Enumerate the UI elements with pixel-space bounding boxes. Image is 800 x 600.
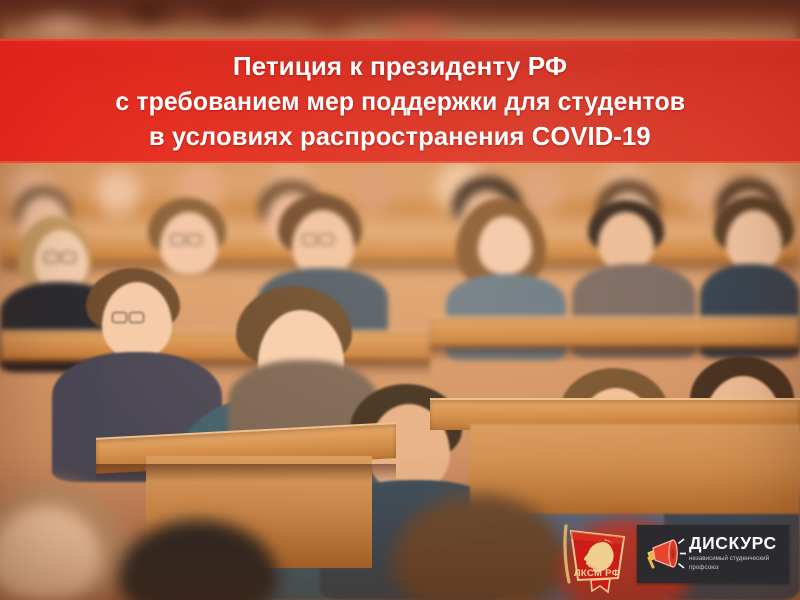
discourse-title: ДИСКУРС <box>689 535 777 553</box>
banner-bottom-edge <box>0 161 800 163</box>
lksm-rf-caption: ЛКСМ РФ <box>574 568 620 579</box>
title-line-1: Петиция к президенту РФ <box>233 53 567 79</box>
lksm-rf-logo: ЛКСМ РФ <box>558 520 634 600</box>
megaphone-icon <box>642 534 686 574</box>
title-banner: Петиция к президенту РФ с требованием ме… <box>0 39 800 163</box>
title-line-3: в условиях распространения COVID-19 <box>149 123 651 149</box>
banner-top-edge <box>0 39 800 41</box>
logo-group: ЛКСМ РФ <box>552 512 796 598</box>
lksm-rf-banner-icon: ЛКСМ РФ <box>558 520 634 600</box>
discourse-logo: ДИСКУРС независимый студенческий профсою… <box>637 525 789 583</box>
discourse-text-block: ДИСКУРС независимый студенческий профсою… <box>689 535 777 573</box>
discourse-subtitle: независимый студенческий профсоюз <box>689 555 775 573</box>
poster-image: Петиция к президенту РФ с требованием ме… <box>0 0 800 600</box>
title-line-2: с требованием мер поддержки для студенто… <box>115 88 685 114</box>
